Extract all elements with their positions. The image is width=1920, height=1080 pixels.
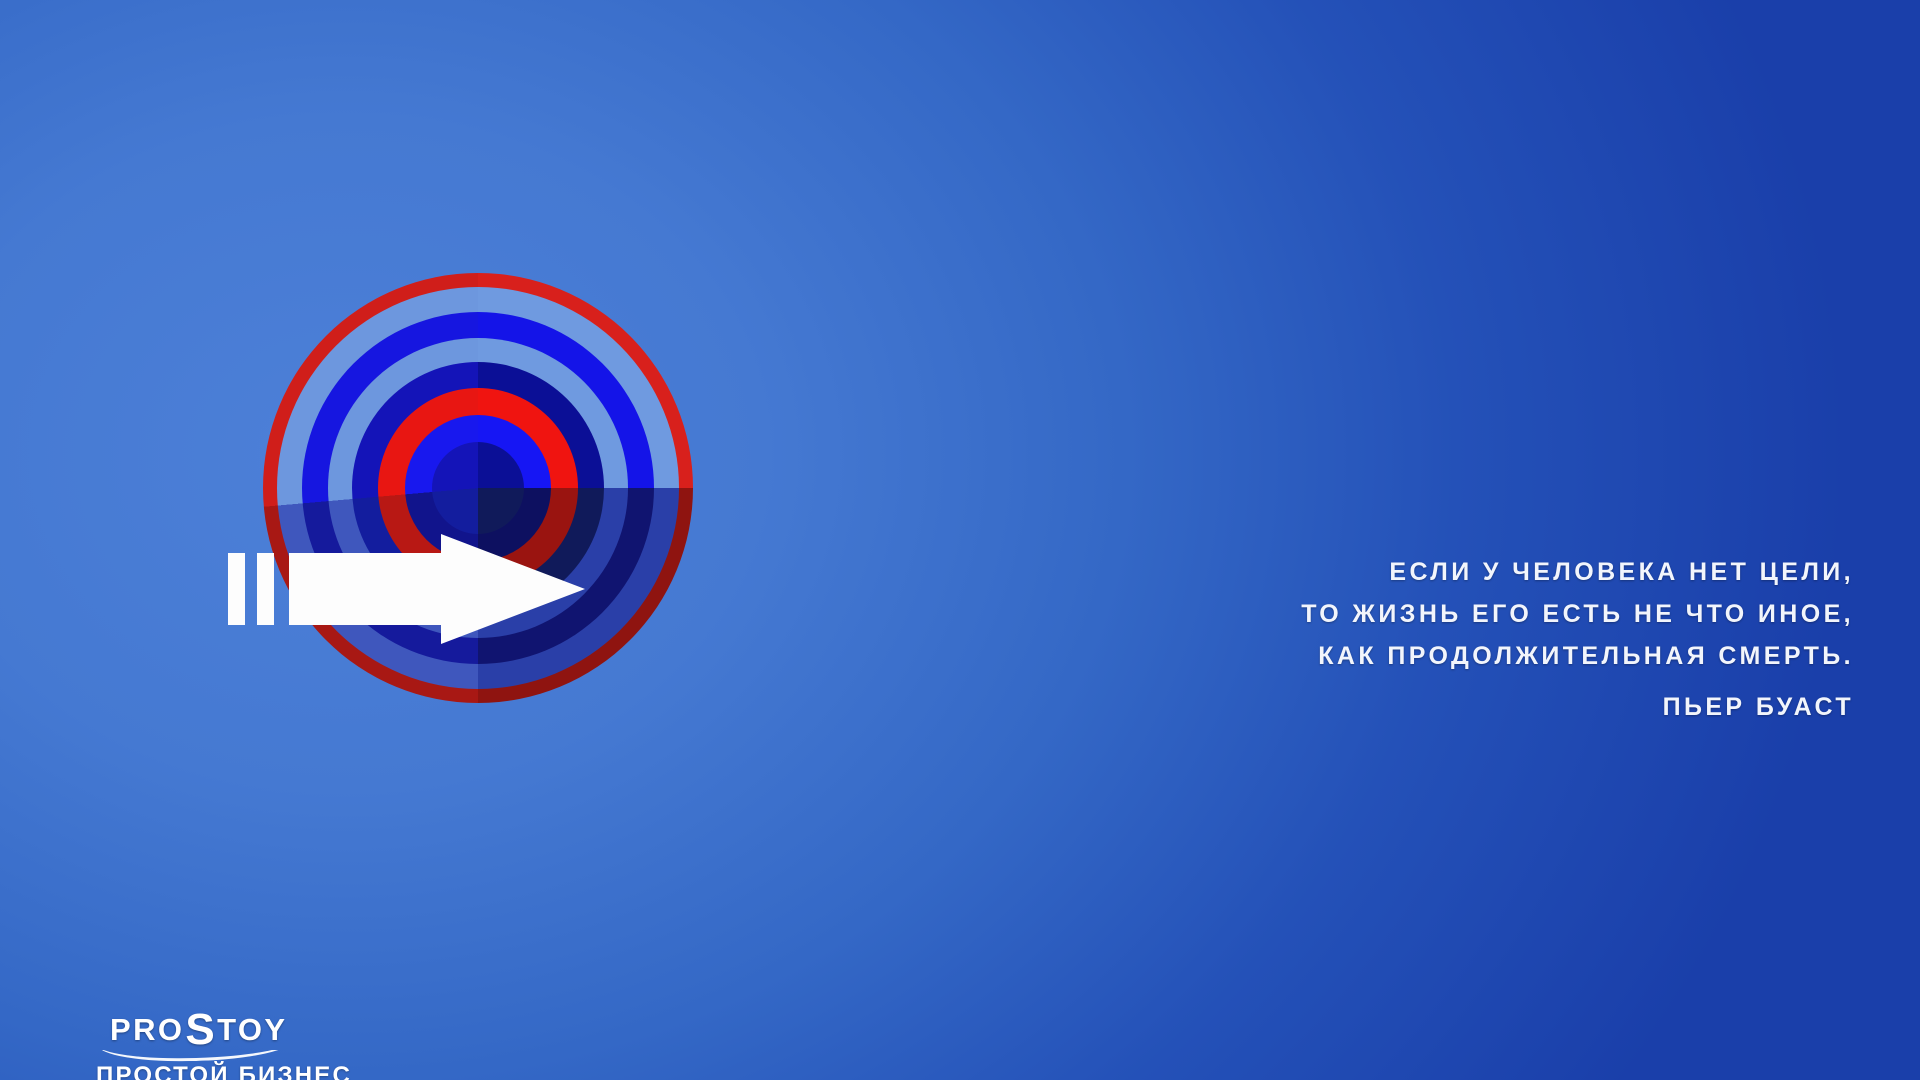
logo-text-pro: PRO xyxy=(110,1012,184,1047)
logo-text-toy: TOY xyxy=(217,1012,287,1047)
quote-line-2: ТО ЖИЗНЬ ЕГО ЕСТЬ НЕ ЧТО ИНОЕ, xyxy=(1301,593,1854,635)
arrow-body xyxy=(289,534,585,644)
brand-logo[interactable]: PROSTOY ПРОСТОЙ БИЗНЕС xyxy=(110,1010,360,1080)
logo-wordmark: PROSTOY xyxy=(110,1010,360,1050)
arrow-trail-dash-2 xyxy=(257,553,274,625)
arrow-icon xyxy=(224,534,584,644)
logo-text-s-accent: S xyxy=(185,1010,217,1050)
quote-line-3: КАК ПРОДОЛЖИТЕЛЬНАЯ СМЕРТЬ. xyxy=(1301,635,1854,677)
quote-author: ПЬЕР БУАСТ xyxy=(1301,686,1854,728)
presentation-slide: ЕСЛИ У ЧЕЛОВЕКА НЕТ ЦЕЛИ, ТО ЖИЗНЬ ЕГО Е… xyxy=(0,0,1920,1080)
arrow-trail-dash-1 xyxy=(228,553,245,625)
quote-block: ЕСЛИ У ЧЕЛОВЕКА НЕТ ЦЕЛИ, ТО ЖИЗНЬ ЕГО Е… xyxy=(1301,551,1854,728)
logo-tagline: ПРОСТОЙ БИЗНЕС xyxy=(96,1062,352,1080)
logo-swoosh-underline xyxy=(98,1050,294,1062)
target-ring-bullseye-core xyxy=(432,442,524,534)
quote-line-1: ЕСЛИ У ЧЕЛОВЕКА НЕТ ЦЕЛИ, xyxy=(1301,551,1854,593)
